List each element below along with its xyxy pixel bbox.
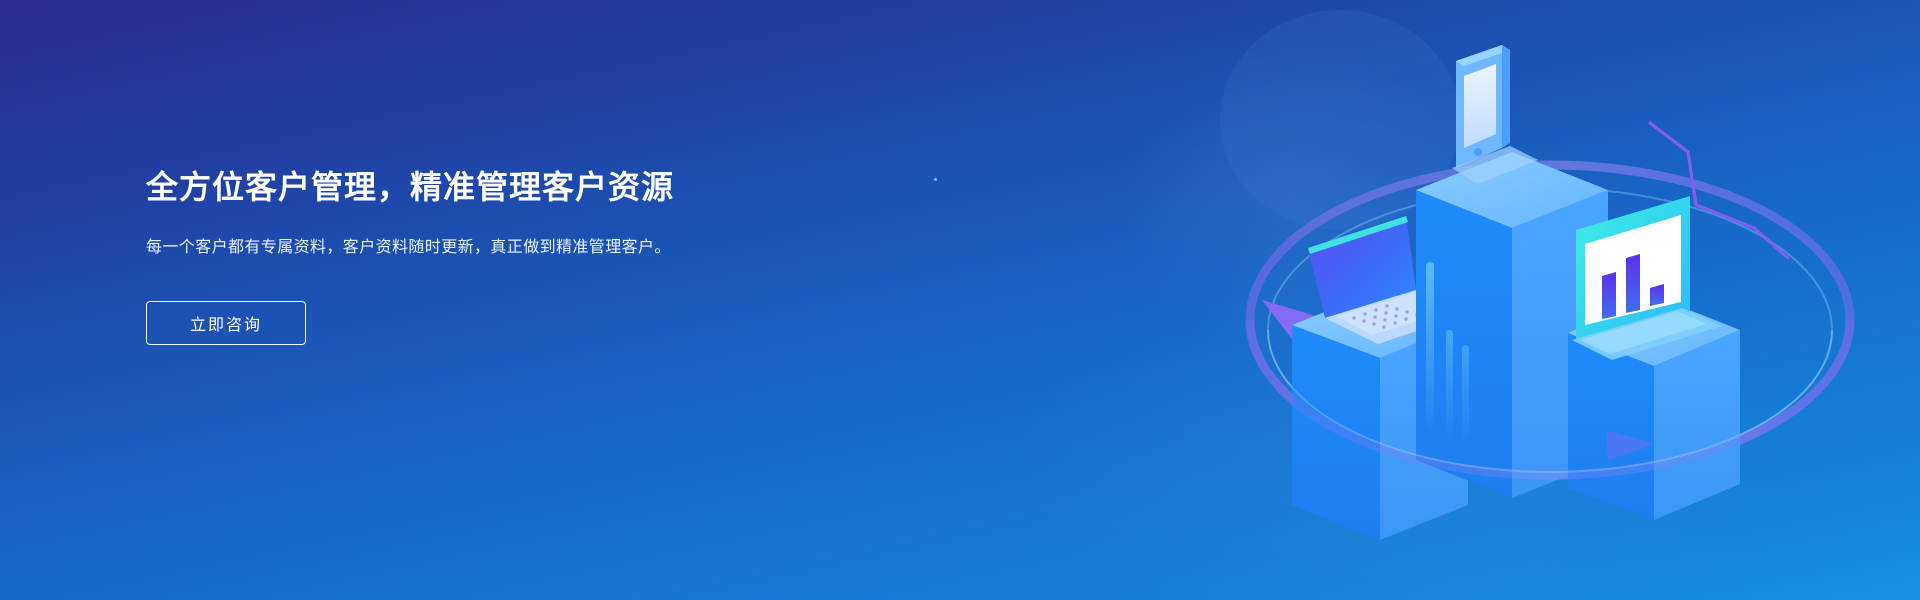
- hero-copy-block: 全方位客户管理，精准管理客户资源 每一个客户都有专属资料，客户资料随时更新，真正…: [146, 165, 766, 345]
- chart-bar: [1602, 272, 1616, 319]
- pillar-streak-icon: [1462, 345, 1469, 445]
- hero-illustration: [1220, 0, 1920, 600]
- consult-now-button[interactable]: 立即咨询: [146, 301, 306, 345]
- pillar-streak-icon: [1446, 330, 1453, 440]
- hero-banner: 全方位客户管理，精准管理客户资源 每一个客户都有专属资料，客户资料随时更新，真正…: [0, 0, 1920, 600]
- page-title: 全方位客户管理，精准管理客户资源: [146, 165, 766, 209]
- pillar-streak-icon: [1426, 262, 1434, 432]
- tablet-icon: [1452, 45, 1538, 184]
- background-dot-icon: [934, 178, 937, 181]
- chart-bar: [1626, 254, 1640, 313]
- hero-subtitle: 每一个客户都有专属资料，客户资料随时更新，真正做到精准管理客户。: [146, 235, 726, 261]
